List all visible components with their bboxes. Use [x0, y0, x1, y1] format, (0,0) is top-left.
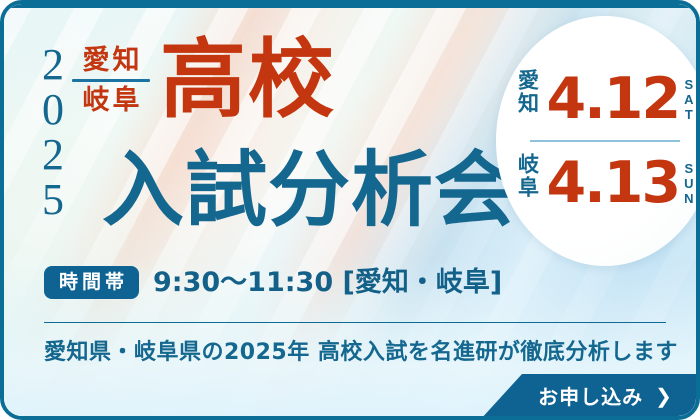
time-badge: 時間帯 [44, 266, 139, 299]
top-border-bar [4, 4, 696, 8]
year-digit-3: 2 [42, 132, 64, 177]
dow-letter: S [684, 161, 694, 176]
time-value: 9:30〜11:30 [愛知・岐阜] [153, 268, 502, 298]
dow-letter: T [685, 107, 694, 122]
date-value-gifu: 4.13 [546, 154, 679, 212]
section-divider [44, 322, 666, 323]
date-circle: 愛知 4.12 S A T 岐阜 4.13 S U N [496, 16, 700, 266]
prefecture-label-gifu: 岐阜 [80, 86, 143, 116]
date-pref-aichi: 愛知 [515, 69, 538, 129]
dow-letter: A [684, 92, 694, 107]
prefecture-divider [72, 79, 150, 82]
headline-secondary: 入試分析会 [102, 146, 517, 236]
apply-button-label: お申し込み [538, 386, 643, 408]
year-digit-4: 5 [42, 177, 64, 222]
year-vertical: 2 0 2 5 [42, 42, 64, 222]
headline-primary: 高校 [160, 36, 336, 124]
date-value-aichi: 4.12 [546, 70, 679, 128]
description-text: 愛知県・岐阜県の2025年 高校入試を名進研が徹底分析します [44, 338, 678, 368]
year-digit-2: 0 [42, 87, 64, 132]
date-row-gifu: 岐阜 4.13 S U N [515, 144, 694, 222]
date-dow-aichi: S A T [684, 77, 694, 122]
dow-letter: U [684, 176, 694, 191]
date-pref-gifu: 岐阜 [515, 153, 538, 213]
date-dow-gifu: S U N [684, 161, 694, 206]
prefecture-stack: 愛知 岐阜 [72, 46, 150, 116]
promo-banner: 2 0 2 5 愛知 岐阜 高校 入試分析会 愛知 4.12 S A T 岐阜 … [0, 0, 700, 420]
prefecture-label-aichi: 愛知 [80, 46, 143, 76]
chevron-right-icon: ❯ [655, 387, 672, 407]
year-digit-1: 2 [42, 42, 64, 87]
date-row-divider [530, 140, 680, 142]
dow-letter: N [684, 191, 694, 206]
date-row-aichi: 愛知 4.12 S A T [515, 60, 694, 138]
dow-letter: S [684, 77, 694, 92]
time-row: 時間帯 9:30〜11:30 [愛知・岐阜] [44, 266, 502, 299]
